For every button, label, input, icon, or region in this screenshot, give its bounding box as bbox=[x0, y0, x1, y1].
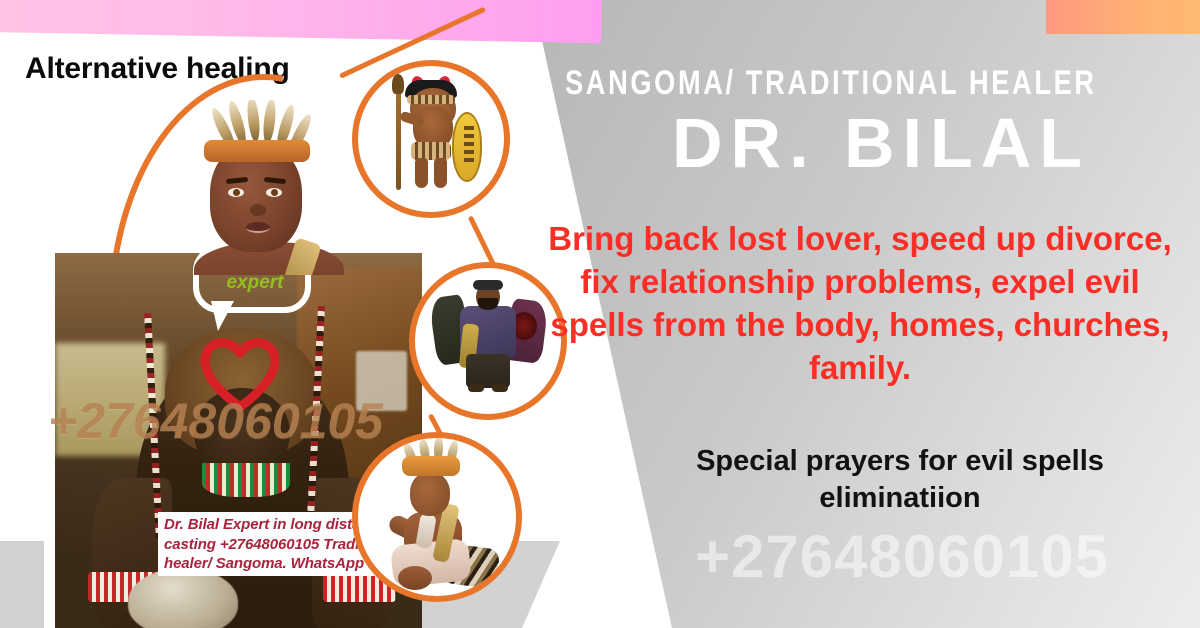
healer-beard bbox=[478, 298, 498, 310]
subtitle-kicker: SANGOMA/ TRADITIONAL HEALER bbox=[565, 66, 1061, 100]
warrior-shield-markings bbox=[464, 126, 474, 164]
portrait-pupil-right bbox=[271, 189, 278, 196]
portrait-nose bbox=[250, 204, 266, 216]
sangoma-head bbox=[410, 472, 450, 516]
healer-foot-right bbox=[492, 384, 508, 392]
warrior-leg-left bbox=[415, 158, 428, 188]
poster-canvas: Alternative healing Ask the expert +27 bbox=[0, 0, 1200, 628]
portrait-feather bbox=[262, 100, 278, 144]
warrior-spear bbox=[396, 82, 401, 190]
top-orange-band bbox=[1046, 0, 1200, 34]
portrait-mouth bbox=[246, 222, 270, 233]
services-description: Bring back lost lover, speed up divorce,… bbox=[540, 218, 1180, 390]
healer-foot-left bbox=[468, 384, 484, 392]
photo-watermark-phone: +27648060105 bbox=[48, 392, 383, 450]
warrior-headband bbox=[407, 95, 455, 104]
portrait-pupil-left bbox=[233, 189, 240, 196]
photo-calabash bbox=[128, 568, 238, 628]
headline-title: DR. BILAL bbox=[672, 108, 1192, 178]
sangoma-knee bbox=[398, 566, 432, 590]
prayers-description: Special prayers for evil spells eliminat… bbox=[615, 443, 1185, 517]
healer-legs bbox=[466, 354, 510, 388]
headdress-portrait-illustration bbox=[170, 100, 350, 275]
healer-hat bbox=[473, 280, 503, 290]
portrait-feather bbox=[246, 100, 262, 142]
circle-illustration-crouching-sangoma[interactable] bbox=[352, 432, 522, 602]
sangoma-crown bbox=[402, 456, 460, 476]
portrait-headband bbox=[204, 140, 310, 162]
background-phone-number: +27648060105 bbox=[612, 522, 1192, 591]
circle-illustration-warrior[interactable] bbox=[352, 60, 510, 218]
warrior-spear-tip bbox=[392, 74, 404, 94]
speech-bubble-tail bbox=[211, 301, 234, 331]
warrior-leg-right bbox=[434, 158, 447, 188]
photo-beaded-necklace bbox=[202, 463, 290, 497]
top-pink-band bbox=[0, 0, 602, 43]
